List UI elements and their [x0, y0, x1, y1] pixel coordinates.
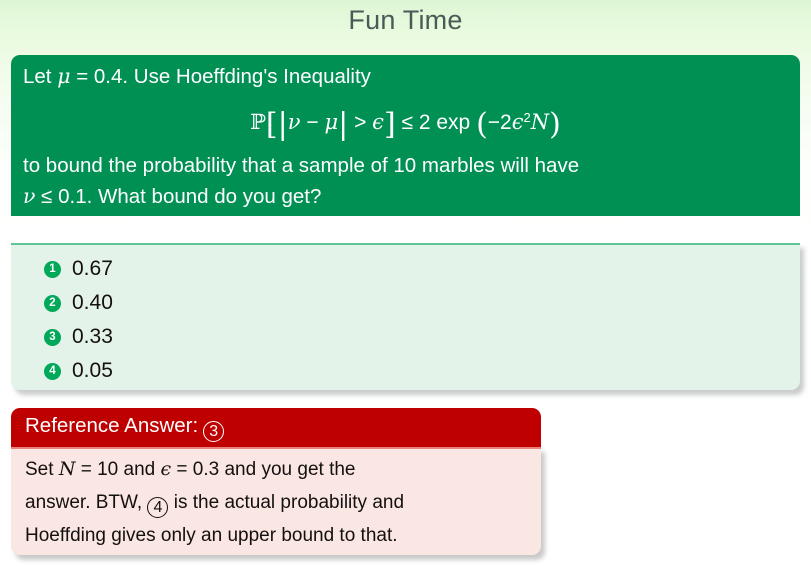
answer-options-panel: 1 0.67 2 0.40 3 0.33 4 0.05	[11, 243, 800, 390]
formula-minus: −	[301, 111, 325, 134]
formula-neg-two: −2	[488, 111, 512, 134]
answer-option-label: 0.40	[72, 291, 113, 315]
paren-close: )	[549, 107, 561, 142]
question-line-1: Let μ = 0.4. Use Hoeffding's Inequality	[23, 61, 788, 92]
reference-answer-header-content: Reference Answer:3	[25, 413, 224, 442]
epsilon-symbol-squared: ϵ	[512, 110, 524, 134]
question-line-1-mid: = 0.4. Use Hoeffding's Inequality	[71, 65, 371, 88]
bracket-open: [	[266, 107, 278, 142]
mu-symbol-formula: μ	[324, 110, 338, 134]
bracket-close: ]	[384, 107, 396, 142]
page-title-text: Fun Time	[348, 5, 462, 35]
question-line-4-rest: ≤ 0.1. What bound do you get?	[35, 185, 321, 208]
explanation-l1-b: = 10 and	[75, 459, 160, 480]
page-title: Fun Time	[0, 2, 811, 38]
answer-option-4[interactable]: 4 0.05	[11, 354, 800, 388]
reference-answer-explanation: Set N = 10 and ϵ = 0.3 and you get the a…	[11, 447, 541, 555]
answer-option-2[interactable]: 2 0.40	[11, 286, 800, 320]
explanation-l1-c: = 0.3 and you get the	[171, 459, 355, 480]
explanation-l2-b: is the actual probability and	[168, 492, 404, 513]
explanation-l2-a: answer. BTW,	[25, 492, 147, 513]
nu-symbol: ν	[288, 110, 301, 134]
answer-option-label: 0.05	[72, 359, 113, 383]
formula-two-exp: 2 exp	[419, 111, 476, 134]
answer-number-badge: 4	[44, 363, 61, 380]
nu-symbol-line4: ν	[23, 184, 35, 208]
slide-canvas: Fun Time Let μ = 0.4. Use Hoeffding's In…	[0, 0, 811, 567]
reference-answer-header: Reference Answer:3	[11, 408, 541, 447]
formula-greater-than: >	[348, 111, 372, 134]
explanation-choice-badge: 4	[147, 497, 168, 518]
N-symbol-formula: N	[531, 110, 549, 134]
answer-option-label: 0.67	[72, 257, 113, 281]
explanation-line-2: answer. BTW, 4 is the actual probability…	[25, 486, 531, 519]
explanation-line-3: Hoeffding gives only an upper bound to t…	[25, 519, 531, 552]
answer-option-1[interactable]: 1 0.67	[11, 252, 800, 286]
exponent-two: 2	[524, 110, 531, 125]
question-block: Let μ = 0.4. Use Hoeffding's Inequality …	[11, 55, 800, 216]
reference-answer-choice-badge: 3	[203, 421, 224, 442]
answer-number-badge: 3	[44, 329, 61, 346]
answer-option-3[interactable]: 3 0.33	[11, 320, 800, 354]
explanation-line-1: Set N = 10 and ϵ = 0.3 and you get the	[25, 453, 531, 486]
mu-symbol: μ	[57, 64, 70, 88]
question-line-4: ν ≤ 0.1. What bound do you get?	[23, 181, 788, 212]
answer-number-badge: 1	[44, 261, 61, 278]
hoeffding-formula: ℙ[|ν − μ| > ϵ] ≤ 2 exp (−2ϵ2N)	[23, 92, 788, 151]
reference-answer-label: Reference Answer:	[25, 414, 198, 437]
question-line-3: to bound the probability that a sample o…	[23, 151, 788, 181]
answer-number-badge: 2	[44, 295, 61, 312]
explanation-l1-a: Set	[25, 459, 59, 480]
probability-symbol: ℙ	[250, 110, 266, 134]
abs-open: |	[278, 107, 288, 142]
N-symbol: N	[59, 458, 76, 480]
answer-option-label: 0.33	[72, 325, 113, 349]
question-line-1-prefix: Let	[23, 65, 57, 88]
formula-less-equal: ≤	[396, 111, 419, 134]
epsilon-symbol: ϵ	[372, 110, 384, 134]
abs-close: |	[338, 107, 348, 142]
paren-open: (	[476, 107, 488, 142]
epsilon-symbol-explanation: ϵ	[160, 458, 171, 480]
